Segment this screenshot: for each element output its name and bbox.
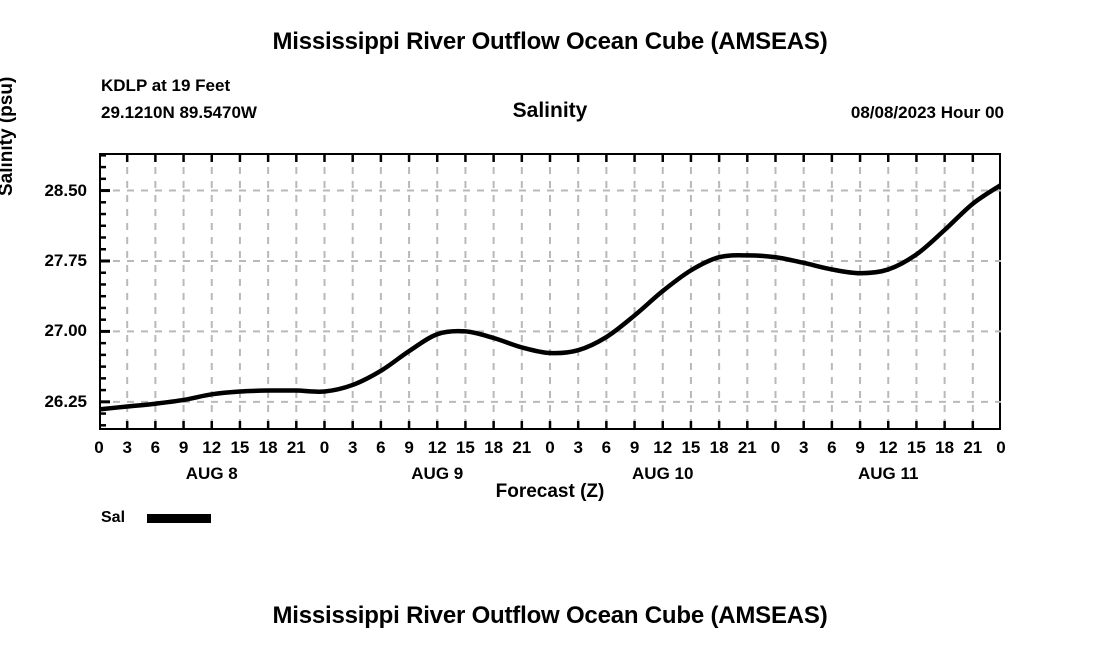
x-axis-tick-label: 0: [537, 439, 563, 456]
x-axis-tick-label: 0: [763, 439, 789, 456]
x-axis-day-label: AUG 11: [828, 465, 948, 482]
chart-title-top: Mississippi River Outflow Ocean Cube (AM…: [0, 28, 1100, 56]
x-axis-tick-label: 18: [932, 439, 958, 456]
chart-title-bottom: Mississippi River Outflow Ocean Cube (AM…: [0, 602, 1100, 630]
x-axis-tick-label: 9: [622, 439, 648, 456]
legend: Sal: [101, 509, 211, 527]
plot-area: [99, 153, 1001, 430]
chart-page: Mississippi River Outflow Ocean Cube (AM…: [0, 0, 1100, 650]
x-axis-tick-label: 21: [509, 439, 535, 456]
x-axis-tick-label: 3: [565, 439, 591, 456]
x-axis-tick-label: 12: [875, 439, 901, 456]
salinity-line-chart: [99, 153, 1001, 430]
x-axis-tick-label: 3: [114, 439, 140, 456]
x-axis-tick-label: 21: [960, 439, 986, 456]
x-axis-tick-label: 3: [791, 439, 817, 456]
x-axis-tick-label: 18: [481, 439, 507, 456]
x-axis-tick-label: 0: [988, 439, 1014, 456]
legend-line-swatch: [147, 514, 211, 523]
x-axis-tick-label: 6: [593, 439, 619, 456]
y-axis-title: Salinity (psu): [0, 77, 18, 196]
x-axis-tick-label: 9: [171, 439, 197, 456]
x-axis-tick-label: 18: [255, 439, 281, 456]
x-axis-tick-label: 21: [283, 439, 309, 456]
x-axis-tick-label: 6: [142, 439, 168, 456]
x-axis-day-label: AUG 10: [603, 465, 723, 482]
x-axis-tick-label: 18: [706, 439, 732, 456]
y-axis-tick-label: 26.25: [7, 393, 87, 410]
x-axis-tick-label: 9: [847, 439, 873, 456]
x-axis-tick-label: 15: [678, 439, 704, 456]
x-axis-day-label: AUG 9: [377, 465, 497, 482]
x-axis-day-label: AUG 8: [152, 465, 272, 482]
y-axis-tick-label: 27.75: [7, 252, 87, 269]
x-axis-tick-label: 9: [396, 439, 422, 456]
x-axis-tick-label: 12: [650, 439, 676, 456]
legend-entry-label: Sal: [101, 509, 125, 527]
y-axis-tick-label: 28.50: [7, 182, 87, 199]
x-axis-tick-label: 15: [227, 439, 253, 456]
x-axis-tick-label: 6: [368, 439, 394, 456]
run-date-label: 08/08/2023 Hour 00: [851, 103, 1004, 123]
x-axis-tick-label: 12: [424, 439, 450, 456]
x-axis-tick-label: 3: [340, 439, 366, 456]
x-axis-tick-label: 15: [903, 439, 929, 456]
y-axis-tick-label: 27.00: [7, 322, 87, 339]
station-label: KDLP at 19 Feet: [101, 76, 230, 96]
x-axis-tick-label: 0: [312, 439, 338, 456]
x-axis-tick-label: 15: [452, 439, 478, 456]
x-axis-tick-label: 6: [819, 439, 845, 456]
x-axis-tick-label: 21: [734, 439, 760, 456]
x-axis-tick-label: 0: [86, 439, 112, 456]
x-axis-title: Forecast (Z): [0, 481, 1100, 503]
x-axis-tick-label: 12: [199, 439, 225, 456]
